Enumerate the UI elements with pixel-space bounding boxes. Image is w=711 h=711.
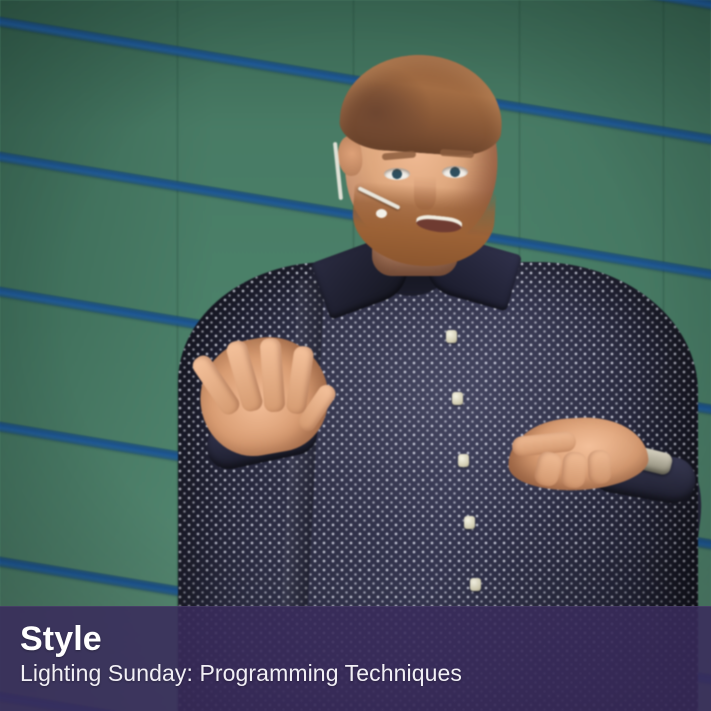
speaker-figure [0,0,711,711]
headset-microphone-capsule [376,209,387,218]
shirt-button [446,330,457,343]
shirt-button [452,392,463,405]
caption-title: Style [20,620,711,658]
eye-right [442,166,468,178]
shirt-button [458,454,469,467]
shirt-button [464,516,475,529]
photo-layer [0,0,711,711]
finger [560,451,588,489]
shirt-button [470,578,481,591]
caption-subtitle: Lighting Sunday: Programming Techniques [20,658,711,688]
eye-left [384,168,410,180]
caption-overlay-bar: Style Lighting Sunday: Programming Techn… [0,606,711,711]
finger [587,450,611,485]
hair [338,49,506,158]
video-thumbnail-card[interactable]: Style Lighting Sunday: Programming Techn… [0,0,711,711]
